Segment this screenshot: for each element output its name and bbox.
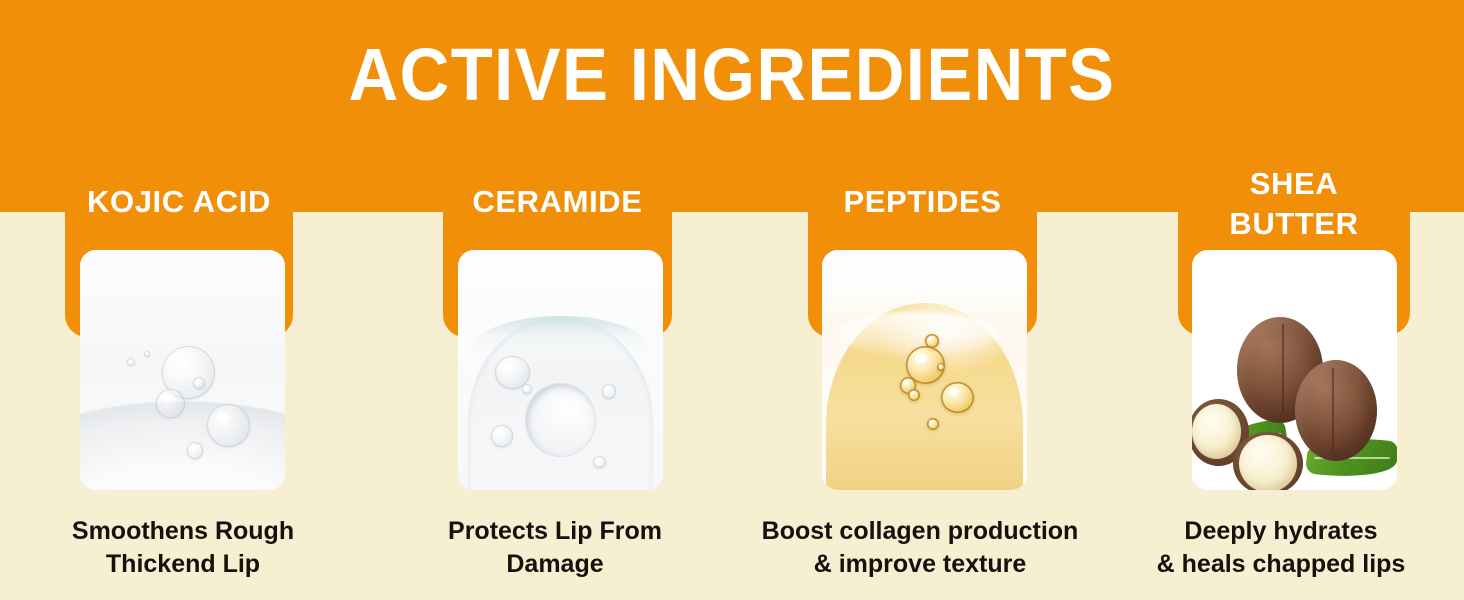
card-image-ceramide bbox=[458, 250, 663, 490]
shea-kernel-icon bbox=[1239, 435, 1296, 490]
shea-nuts-with-leaves-photo bbox=[1192, 250, 1397, 490]
gel-bubble-icon bbox=[491, 425, 514, 447]
card-caption-ceramide: Protects Lip From Damage bbox=[380, 515, 730, 581]
card-title-ceramide: CERAMIDE bbox=[423, 182, 692, 222]
golden-serum-bubbles-photo bbox=[822, 250, 1027, 490]
gel-bubble-icon bbox=[156, 389, 185, 418]
gel-bubble-icon bbox=[522, 384, 532, 394]
card-image-shea-butter bbox=[1192, 250, 1397, 490]
gel-bubble-icon bbox=[602, 384, 616, 398]
cream-blob-rim bbox=[468, 316, 653, 354]
gel-bubble-icon bbox=[144, 351, 150, 357]
shea-kernel-icon bbox=[1192, 404, 1241, 459]
cream-blob-hole bbox=[526, 384, 596, 456]
serum-bubble-icon bbox=[927, 418, 939, 430]
gel-bubble-icon bbox=[187, 442, 203, 459]
card-caption-shea-butter: Deeply hydrates & heals chapped lips bbox=[1098, 515, 1464, 581]
card-caption-peptides: Boost collagen production & improve text… bbox=[735, 515, 1105, 581]
gel-bubble-icon bbox=[127, 358, 135, 366]
card-image-kojic-acid bbox=[80, 250, 285, 490]
serum-bubble-icon bbox=[941, 382, 974, 413]
clear-gel-droplets-photo bbox=[80, 250, 285, 490]
white-cream-blob-photo bbox=[458, 250, 663, 490]
page-title: ACTIVE INGREDIENTS bbox=[51, 36, 1413, 114]
shea-nut-icon bbox=[1295, 360, 1377, 461]
active-ingredients-banner: ACTIVE INGREDIENTS KOJIC ACID Smoothens … bbox=[0, 0, 1464, 600]
gel-bubble-icon bbox=[207, 404, 250, 447]
card-title-shea-butter: SHEA BUTTER bbox=[1158, 164, 1430, 244]
card-image-peptides bbox=[822, 250, 1027, 490]
card-title-peptides: PEPTIDES bbox=[788, 182, 1057, 222]
gel-bubble-icon bbox=[593, 456, 605, 468]
card-caption-kojic-acid: Smoothens Rough Thickend Lip bbox=[8, 515, 358, 581]
serum-bubble-icon bbox=[937, 363, 945, 371]
card-title-kojic-acid: KOJIC ACID bbox=[45, 182, 313, 222]
